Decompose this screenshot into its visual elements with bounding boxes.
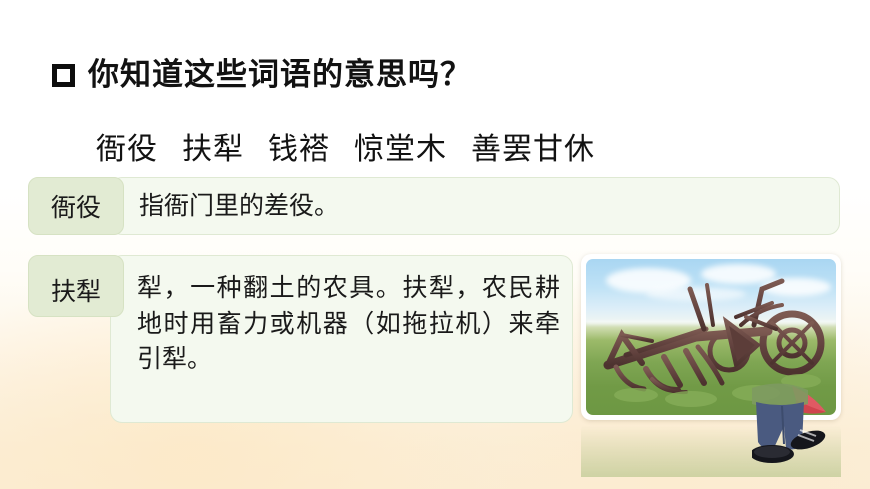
word-item: 惊堂木: [354, 132, 447, 167]
definition-text-value: 犁，一种翻土的农具。扶犁，农民耕地时用畜力或机器（如拖拉机）来牵引犁。: [137, 270, 560, 377]
page-title: 你知道这些词语的意思吗？: [88, 60, 472, 91]
plow-illustration-icon: [586, 259, 836, 415]
definition-text: 犁，一种翻土的农具。扶犁，农民耕地时用畜力或机器（如拖拉机）来牵引犁。: [110, 255, 573, 423]
plow-photo-frame: [581, 254, 841, 420]
word-item: 扶犁: [182, 132, 244, 167]
photo-reflection: [581, 421, 841, 477]
definition-term-label: 衙役: [28, 177, 124, 235]
definition-text: 指衙门里的差役。: [110, 177, 840, 235]
definition-row: 衙役 指衙门里的差役。: [28, 177, 840, 235]
plow-photo: [586, 259, 836, 415]
slide-title-row: 你知道这些词语的意思吗？: [52, 60, 472, 91]
definition-row: 扶犁 犁，一种翻土的农具。扶犁，农民耕地时用畜力或机器（如拖拉机）来牵引犁。: [28, 255, 573, 423]
hollow-square-bullet-icon: [52, 64, 75, 87]
word-item: 善罢甘休: [471, 132, 595, 167]
shoe-icon: [752, 445, 794, 463]
definition-text-value: 指衙门里的差役。: [139, 188, 339, 224]
word-list: 衙役扶犁钱褡惊堂木善罢甘休: [96, 124, 595, 168]
definition-term-label: 扶犁: [28, 255, 124, 317]
word-item: 钱褡: [268, 132, 330, 167]
slide-root: 你知道这些词语的意思吗？ 衙役扶犁钱褡惊堂木善罢甘休 衙役 指衙门里的差役。 扶…: [0, 0, 870, 489]
word-item: 衙役: [96, 132, 158, 167]
shoe-icon: [788, 427, 827, 453]
